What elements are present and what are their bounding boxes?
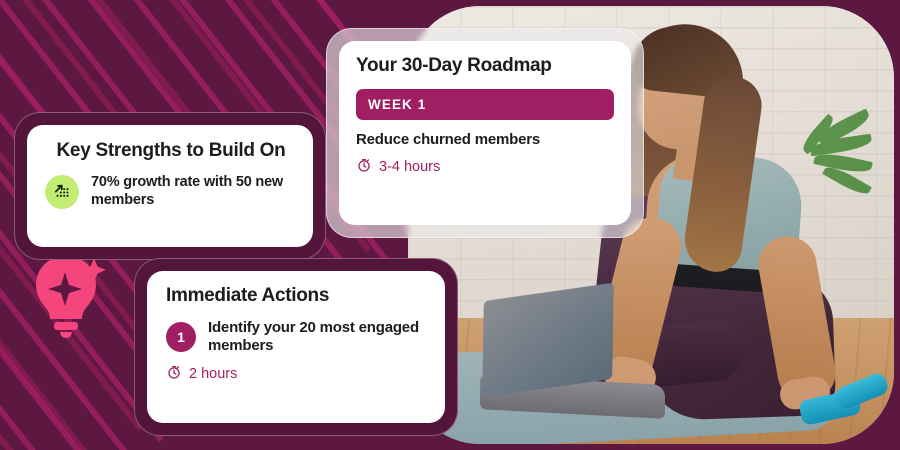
key-strengths-item: 70% growth rate with 50 new members (45, 174, 297, 209)
growth-chart-icon (45, 175, 79, 209)
immediate-actions-card: Immediate Actions 1 Identify your 20 mos… (147, 271, 445, 423)
roadmap-task: Reduce churned members (356, 131, 614, 148)
key-strengths-item-text: 70% growth rate with 50 new members (91, 174, 297, 209)
step-number-badge: 1 (166, 322, 196, 352)
lightbulb-sparkle-icon (24, 250, 108, 342)
roadmap-title: Your 30-Day Roadmap (356, 56, 614, 77)
week-badge: WEEK 1 (356, 89, 614, 120)
key-strengths-title: Key Strengths to Build On (45, 141, 297, 162)
roadmap-duration-text: 3-4 hours (379, 159, 440, 175)
immediate-actions-title: Immediate Actions (166, 286, 428, 307)
immediate-actions-task: Identify your 20 most engaged members (208, 319, 428, 355)
roadmap-card-frame: Your 30-Day Roadmap WEEK 1 Reduce churne… (326, 28, 644, 238)
stopwatch-icon (356, 157, 372, 177)
key-strengths-card-frame: Key Strengths to Build On (14, 112, 326, 260)
key-strengths-card: Key Strengths to Build On (27, 125, 313, 247)
roadmap-card: Your 30-Day Roadmap WEEK 1 Reduce churne… (339, 41, 631, 225)
immediate-actions-duration-text: 2 hours (189, 366, 237, 382)
roadmap-duration: 3-4 hours (356, 157, 614, 177)
stopwatch-icon (166, 364, 182, 384)
poster-canvas: Key Strengths to Build On (0, 0, 900, 450)
immediate-actions-duration: 2 hours (166, 364, 428, 384)
immediate-actions-item: 1 Identify your 20 most engaged members (166, 319, 428, 355)
immediate-actions-card-frame: Immediate Actions 1 Identify your 20 mos… (134, 258, 458, 436)
